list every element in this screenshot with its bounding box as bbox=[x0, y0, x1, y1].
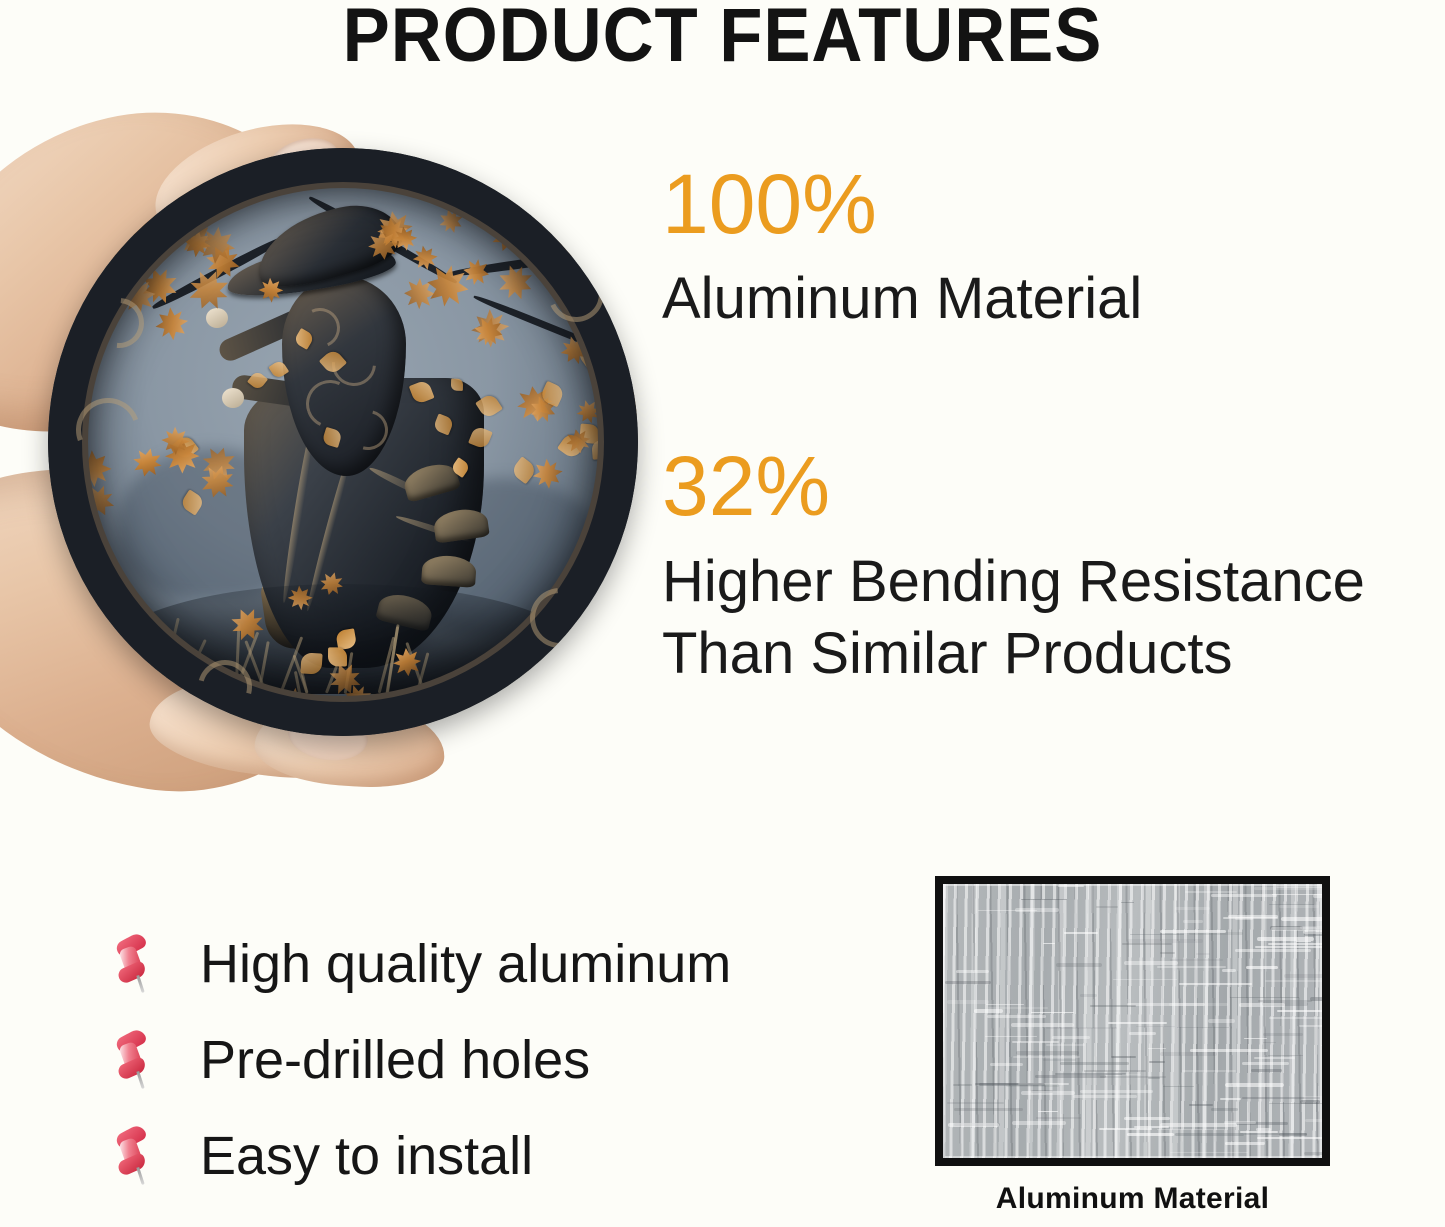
metal-streak bbox=[1281, 917, 1327, 921]
metal-streak bbox=[1300, 926, 1330, 929]
metal-streak bbox=[1220, 1098, 1241, 1100]
metal-streak bbox=[1242, 1062, 1289, 1065]
grass-blade bbox=[115, 648, 132, 693]
metal-streak bbox=[979, 1083, 1045, 1086]
metal-streak bbox=[947, 1000, 989, 1004]
metal-streak bbox=[1090, 1005, 1136, 1007]
metal-streak bbox=[1021, 1091, 1074, 1095]
metal-streak bbox=[1129, 1032, 1156, 1035]
metal-streak bbox=[1225, 1142, 1265, 1145]
aluminum-texture-box bbox=[935, 876, 1330, 1166]
metal-streak bbox=[1015, 908, 1060, 912]
metal-streak bbox=[974, 1009, 1003, 1013]
metal-streak bbox=[1265, 980, 1330, 982]
metal-streak bbox=[1269, 1017, 1328, 1019]
aluminum-swatch: Aluminum Material bbox=[935, 876, 1330, 1216]
metal-streak bbox=[1304, 1152, 1330, 1155]
metal-streak bbox=[985, 1036, 1037, 1037]
metal-streak bbox=[1263, 1160, 1300, 1163]
metal-streak bbox=[1321, 1045, 1330, 1046]
metal-streak bbox=[1043, 1059, 1076, 1061]
metal-streak bbox=[1185, 891, 1237, 893]
metal-streak bbox=[1258, 1000, 1312, 1002]
metal-streak bbox=[1175, 907, 1211, 910]
metal-streak bbox=[1036, 1117, 1082, 1119]
metal-streak bbox=[986, 1004, 1024, 1005]
stat-label: Aluminum Material bbox=[662, 266, 1442, 332]
metal-streak bbox=[1225, 1083, 1284, 1087]
bullet-text: High quality aluminum bbox=[200, 935, 731, 993]
metal-streak bbox=[1011, 1023, 1074, 1027]
metal-streak bbox=[1269, 1103, 1330, 1104]
stat-label-line: Than Similar Products bbox=[662, 618, 1442, 690]
metal-streak bbox=[1239, 1003, 1285, 1007]
pushpin-icon bbox=[112, 1029, 158, 1091]
metal-streak bbox=[990, 1063, 1023, 1066]
metal-streak bbox=[1235, 949, 1312, 952]
metal-streak bbox=[1046, 1027, 1117, 1029]
metal-streak bbox=[1124, 961, 1178, 965]
metal-streak bbox=[1012, 1041, 1059, 1043]
stat-label-line: Higher Bending Resistance bbox=[662, 546, 1442, 618]
stat-number: 32% bbox=[662, 442, 1442, 530]
metal-streak bbox=[1058, 885, 1084, 887]
metal-streak bbox=[1160, 1123, 1238, 1127]
metal-streak bbox=[1160, 952, 1175, 954]
metal-streak bbox=[1257, 937, 1314, 941]
metal-streak bbox=[1060, 1062, 1129, 1065]
metal-streak bbox=[954, 1108, 1023, 1111]
metal-streak bbox=[1148, 1077, 1160, 1079]
stat-block-bending: 32% Higher Bending Resistance Than Simil… bbox=[662, 442, 1442, 690]
stat-block-aluminum: 100% Aluminum Material bbox=[662, 160, 1442, 332]
hands-holding-sign bbox=[0, 100, 660, 790]
list-item: High quality aluminum bbox=[112, 916, 832, 1012]
pushpin-collar bbox=[116, 1056, 148, 1081]
metal-streak bbox=[1136, 1026, 1175, 1027]
metal-streak bbox=[1230, 997, 1299, 998]
metal-streak bbox=[1244, 1038, 1266, 1039]
metal-streak bbox=[1127, 939, 1203, 943]
metal-streak bbox=[1064, 932, 1098, 934]
metal-streak bbox=[1160, 930, 1227, 933]
metal-streak bbox=[948, 1123, 999, 1127]
metal-streak bbox=[1284, 974, 1330, 978]
metal-streak bbox=[1056, 963, 1103, 967]
metal-streak bbox=[1148, 1048, 1166, 1049]
metal-streak bbox=[1122, 943, 1172, 945]
metal-streak bbox=[953, 1084, 972, 1086]
bullet-text: Pre-drilled holes bbox=[200, 1031, 590, 1089]
metal-streak bbox=[1084, 1070, 1147, 1072]
metal-streak bbox=[1021, 899, 1067, 900]
metal-streak bbox=[1182, 1070, 1236, 1072]
metal-streak bbox=[1170, 959, 1223, 961]
round-metal-sign bbox=[48, 148, 638, 736]
metal-streak bbox=[1211, 894, 1277, 897]
metal-streak bbox=[1046, 1044, 1085, 1046]
metal-streak bbox=[1222, 969, 1236, 972]
metal-streak bbox=[1179, 983, 1252, 985]
metal-streak bbox=[1313, 894, 1330, 898]
metal-streak bbox=[1268, 1055, 1303, 1056]
metal-streak bbox=[1305, 1119, 1330, 1122]
metal-streak bbox=[1099, 1128, 1152, 1130]
metal-streak bbox=[1124, 1117, 1169, 1120]
pushpin-needle bbox=[136, 975, 144, 993]
metal-streak bbox=[1170, 1152, 1247, 1153]
metal-streak bbox=[1196, 953, 1210, 955]
pushpin-needle bbox=[136, 1071, 144, 1089]
metal-streak bbox=[1296, 941, 1311, 942]
metal-streak bbox=[1189, 1104, 1213, 1106]
metal-streak bbox=[1080, 994, 1097, 997]
metal-streak bbox=[1096, 906, 1118, 908]
metal-streak bbox=[956, 970, 989, 973]
metal-streak bbox=[947, 1102, 1004, 1104]
pushpin-collar bbox=[116, 960, 148, 985]
metal-streak bbox=[1149, 1061, 1165, 1063]
metal-streak bbox=[1255, 946, 1327, 948]
metal-streak bbox=[1157, 1129, 1227, 1130]
metal-streak bbox=[1257, 1137, 1325, 1139]
metal-streak bbox=[1277, 1010, 1330, 1012]
list-item: Easy to install bbox=[112, 1108, 832, 1204]
metal-streak bbox=[950, 1161, 969, 1164]
metal-streak bbox=[1163, 1086, 1194, 1087]
metal-streak bbox=[1268, 943, 1330, 945]
metal-streak bbox=[1263, 1033, 1303, 1036]
pushpin-icon bbox=[112, 1125, 158, 1187]
metal-streak bbox=[1160, 1052, 1217, 1056]
metal-streak bbox=[1183, 920, 1203, 923]
metal-streak bbox=[1157, 966, 1226, 968]
swatch-caption: Aluminum Material bbox=[935, 1182, 1330, 1216]
metal-streak bbox=[1031, 1012, 1074, 1013]
metal-streak bbox=[1127, 1003, 1205, 1006]
pushpin-icon bbox=[112, 933, 158, 995]
stat-label: Higher Bending Resistance Than Similar P… bbox=[662, 546, 1442, 690]
metal-streak bbox=[1263, 1042, 1276, 1043]
metal-streak bbox=[1276, 885, 1328, 888]
metal-streak bbox=[1254, 1057, 1295, 1059]
metal-streak bbox=[1279, 1133, 1308, 1136]
metal-streak bbox=[1080, 1090, 1153, 1093]
metal-streak bbox=[1052, 1036, 1090, 1039]
metal-streak bbox=[1299, 1025, 1330, 1027]
metal-streak bbox=[1304, 1096, 1330, 1100]
metal-streak bbox=[1038, 1111, 1057, 1112]
metal-streak bbox=[1035, 1075, 1107, 1078]
metal-streak bbox=[1043, 943, 1055, 944]
metal-streak bbox=[1073, 1095, 1138, 1098]
product-photo bbox=[0, 100, 660, 790]
metal-streak bbox=[1012, 1121, 1066, 1125]
metal-streak bbox=[1111, 1056, 1136, 1058]
metal-streak bbox=[1251, 1069, 1282, 1072]
list-item: Pre-drilled holes bbox=[112, 1012, 832, 1108]
metal-streak bbox=[1208, 1019, 1235, 1023]
metal-streak bbox=[1175, 1133, 1244, 1136]
metal-streak bbox=[1121, 902, 1135, 903]
metal-streak bbox=[1211, 1108, 1238, 1111]
metal-streak bbox=[1279, 905, 1319, 908]
metal-streak bbox=[945, 981, 990, 984]
pushpin-collar bbox=[116, 1152, 148, 1177]
stats-column: 100% Aluminum Material 32% Higher Bendin… bbox=[662, 160, 1442, 800]
metal-streak bbox=[1016, 1051, 1079, 1055]
metal-streak bbox=[987, 1015, 1046, 1018]
metal-streak bbox=[1246, 966, 1278, 969]
metal-streak bbox=[1235, 917, 1253, 920]
metal-streak bbox=[1108, 1022, 1168, 1024]
metal-streak bbox=[1190, 1049, 1269, 1052]
metal-streak bbox=[1127, 1133, 1174, 1136]
metal-streak bbox=[1013, 1056, 1080, 1058]
metal-streak bbox=[1240, 1131, 1278, 1133]
page-title: PRODUCT FEATURES bbox=[51, 0, 1395, 72]
pushpin-needle bbox=[136, 1167, 144, 1185]
stat-number: 100% bbox=[662, 160, 1442, 248]
metal-streak bbox=[1310, 997, 1330, 1001]
metal-streak bbox=[1130, 934, 1184, 935]
bullet-text: Easy to install bbox=[200, 1127, 533, 1185]
metal-streak bbox=[1303, 930, 1330, 934]
feature-bullet-list: High quality aluminum Pre-drilled holes … bbox=[112, 916, 832, 1204]
metal-streak bbox=[1113, 979, 1177, 980]
metal-streak bbox=[1177, 1027, 1229, 1028]
